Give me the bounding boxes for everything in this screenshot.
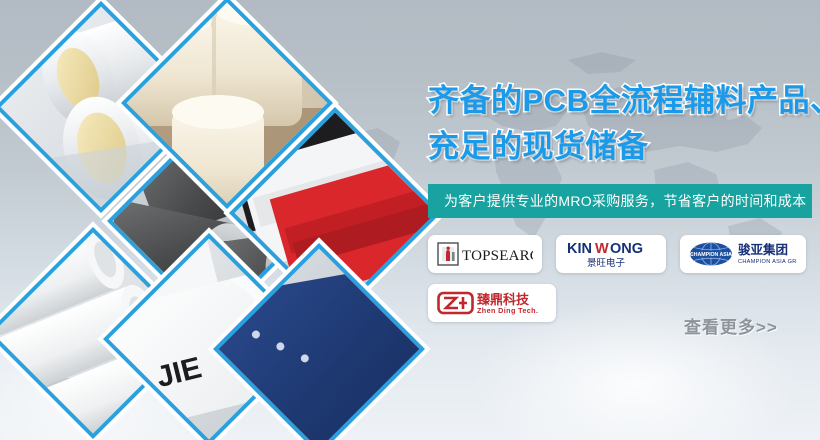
kinwong-logo-icon: KIN W ONG 景旺电子: [565, 238, 657, 270]
champion-asia-logo-icon: CHAMPION ASIA 骏亚集团 CHAMPION ASIA GROUP: [689, 239, 797, 269]
product-photo-collage: JIE: [0, 0, 430, 440]
svg-text:ONG: ONG: [610, 241, 643, 257]
partner-logo-list: TOPSEARCH KIN W ONG 景旺电子: [428, 235, 820, 322]
svg-text:CHAMPION ASIA GROUP: CHAMPION ASIA GROUP: [738, 259, 797, 265]
svg-text:W: W: [595, 241, 609, 257]
svg-text:景旺电子: 景旺电子: [587, 257, 626, 269]
banner-copy-block: 齐备的PCB全流程辅料产品、 充足的现货储备 为客户提供专业的MRO采购服务，节…: [428, 78, 820, 322]
zhen-ding-logo-icon: 臻鼎科技 Zhen Ding Tech.: [437, 288, 547, 318]
logo-card-zhen-ding[interactable]: 臻鼎科技 Zhen Ding Tech.: [428, 284, 556, 322]
svg-text:CHAMPION ASIA: CHAMPION ASIA: [690, 252, 732, 258]
subtitle-bar: 为客户提供专业的MRO采购服务，节省客户的时间和成本: [428, 184, 812, 218]
svg-text:TOPSEARCH: TOPSEARCH: [462, 248, 533, 264]
headline-line-2: 充足的现货储备: [428, 124, 820, 170]
topsearch-logo-icon: TOPSEARCH: [437, 241, 533, 267]
view-more-link[interactable]: 查看更多>>: [684, 313, 778, 338]
promotional-banner: JIE: [0, 0, 820, 440]
svg-text:骏亚集团: 骏亚集团: [738, 242, 788, 257]
logo-card-kinwong[interactable]: KIN W ONG 景旺电子: [556, 235, 666, 273]
logo-card-topsearch[interactable]: TOPSEARCH: [428, 235, 542, 273]
logo-card-champion-asia[interactable]: CHAMPION ASIA 骏亚集团 CHAMPION ASIA GROUP: [680, 235, 806, 273]
headline-line-1: 齐备的PCB全流程辅料产品、: [428, 78, 820, 124]
svg-text:KIN: KIN: [567, 241, 592, 257]
svg-text:Zhen Ding Tech.: Zhen Ding Tech.: [477, 306, 538, 315]
